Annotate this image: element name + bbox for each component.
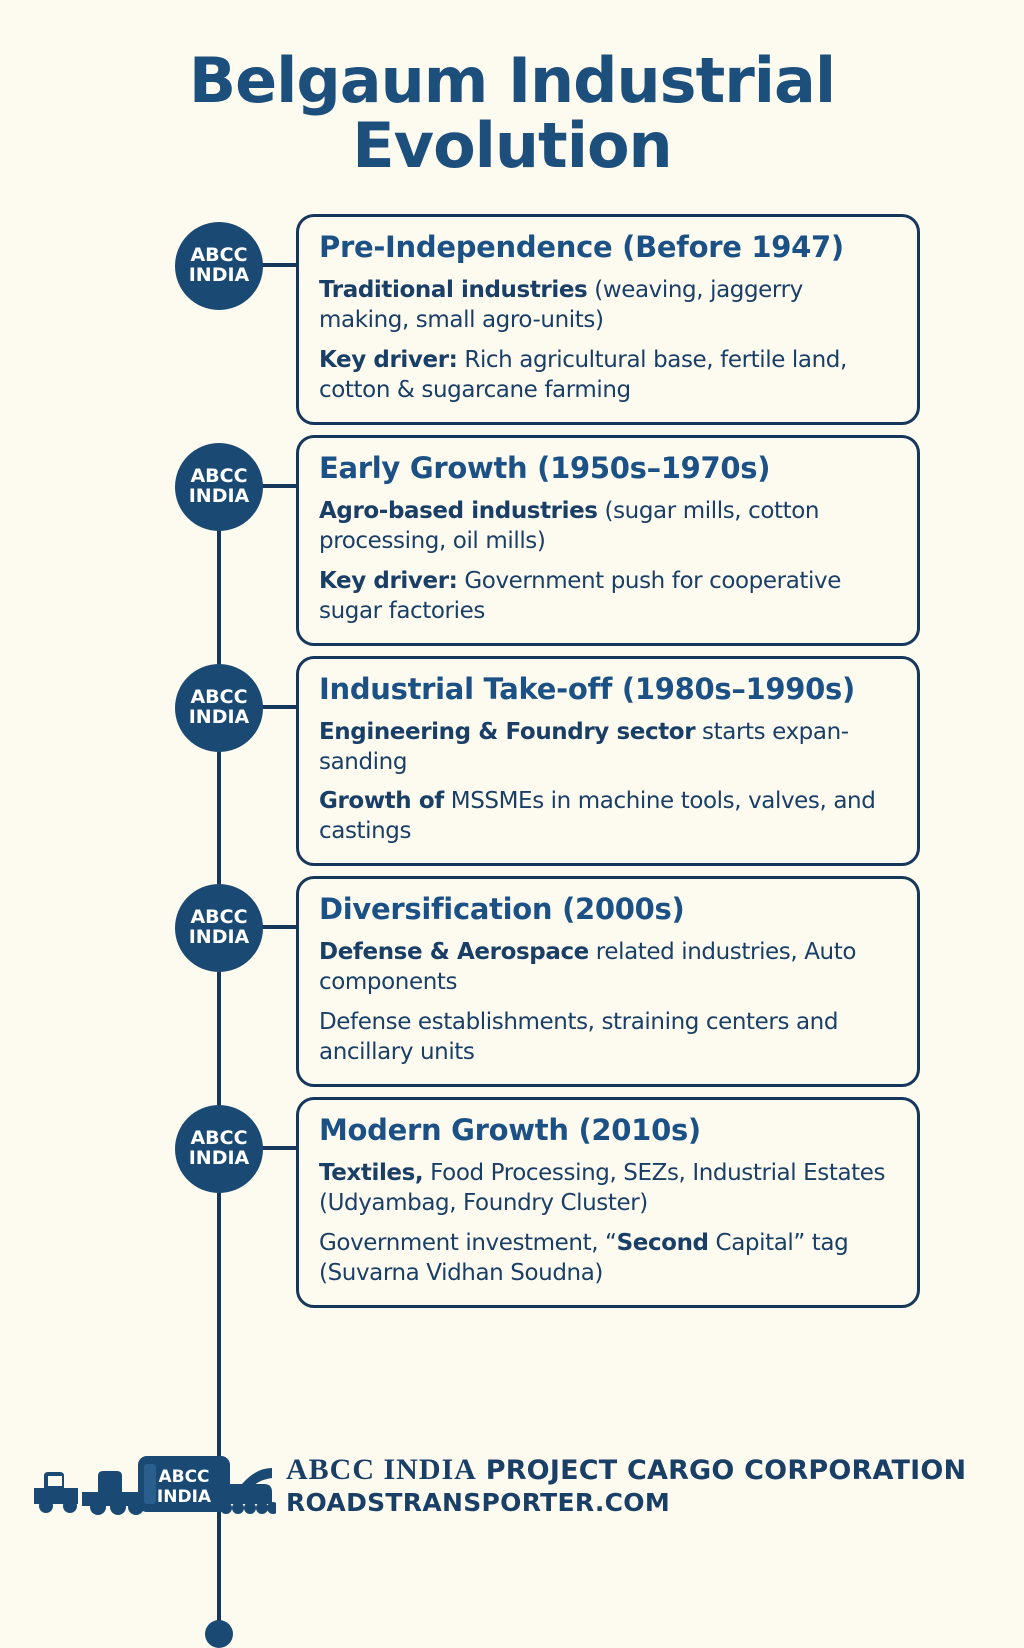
- badge-line1: ABCC: [190, 467, 247, 487]
- timeline-connector: [258, 484, 300, 488]
- card-paragraph-lead: Agro-based industries: [319, 498, 598, 524]
- timeline-badge-3: ABCC INDIA: [175, 664, 263, 752]
- timeline-badge-1: ABCC INDIA: [175, 222, 263, 310]
- footer-brand: ABCC INDIA: [286, 1453, 477, 1486]
- card-title: Pre-Independence (Before 1947): [319, 229, 897, 266]
- card-paragraph-lead: Engineering & Foundry sector: [319, 719, 695, 745]
- card-paragraph: Growth of MSSMEs in machine tools, valve…: [319, 787, 897, 847]
- timeline-connector: [258, 925, 300, 929]
- card-paragraph: Defense establishments, straining center…: [319, 1008, 897, 1068]
- card-paragraph: Defense & Aerospace related industries, …: [319, 938, 897, 998]
- timeline-badge-4: ABCC INDIA: [175, 884, 263, 972]
- timeline-row: ABCC INDIA Diversification (2000s) Defen…: [0, 876, 1024, 1087]
- footer-corp: PROJECT CARGO CORPORATION: [486, 1455, 967, 1486]
- card-paragraph-rest: Defense establishments, straining center…: [319, 1009, 838, 1065]
- card-title: Modern Growth (2010s): [319, 1112, 897, 1149]
- card-title: Early Growth (1950s–1970s): [319, 450, 897, 487]
- timeline-row: ABCC INDIA Industrial Take-off (1980s–19…: [0, 656, 1024, 867]
- badge-line2: INDIA: [189, 1149, 250, 1169]
- card-paragraph-rest: Government investment, “: [319, 1230, 617, 1256]
- badge-line2: INDIA: [189, 708, 250, 728]
- badge-line1: ABCC: [190, 688, 247, 708]
- timeline-connector: [258, 705, 300, 709]
- footer-logo-badge-line2: INDIA: [157, 1487, 212, 1507]
- footer-company-line: ABCC INDIA PROJECT CARGO CORPORATION: [286, 1454, 966, 1486]
- timeline-badge-2: ABCC INDIA: [175, 443, 263, 531]
- card-paragraph-lead: Textiles,: [319, 1160, 423, 1186]
- card-paragraph: Key driver: Government push for cooperat…: [319, 567, 897, 627]
- card-paragraph-lead: Key driver:: [319, 347, 457, 373]
- footer: ABCC INDIA ABCC INDIA PROJECT CARGO CORP…: [0, 1450, 1024, 1522]
- timeline-card-1[interactable]: Pre-Independence (Before 1947) Tradition…: [296, 214, 920, 425]
- card-paragraph: Engineering & Foundry sector starts expa…: [319, 718, 897, 778]
- card-paragraph: Key driver: Rich agricultural base, fert…: [319, 346, 897, 406]
- timeline-badge-5: ABCC INDIA: [175, 1105, 263, 1193]
- timeline-connector: [258, 263, 300, 267]
- timeline-card-2[interactable]: Early Growth (1950s–1970s) Agro-based in…: [296, 435, 920, 646]
- timeline-card-3[interactable]: Industrial Take-off (1980s–1990s) Engine…: [296, 656, 920, 867]
- card-paragraph: Agro-based industries (sugar mills, cott…: [319, 497, 897, 557]
- card-paragraph: Government investment, “Second Capital” …: [319, 1229, 897, 1289]
- timeline-end-dot: [205, 1620, 233, 1648]
- footer-text: ABCC INDIA PROJECT CARGO CORPORATION ROA…: [286, 1454, 966, 1517]
- footer-logo-badge-line1: ABCC: [158, 1467, 209, 1487]
- timeline-row: ABCC INDIA Modern Growth (2010s) Textile…: [0, 1097, 1024, 1308]
- badge-line2: INDIA: [189, 487, 250, 507]
- footer-website[interactable]: ROADSTRANSPORTER.COM: [286, 1489, 966, 1518]
- timeline-card-5[interactable]: Modern Growth (2010s) Textiles, Food Pro…: [296, 1097, 920, 1308]
- card-paragraph-lead: Growth of: [319, 788, 444, 814]
- card-paragraph-lead: Defense & Aerospace: [319, 939, 589, 965]
- card-paragraph-lead: Key driver:: [319, 568, 457, 594]
- badge-line1: ABCC: [190, 908, 247, 928]
- card-paragraph: Textiles, Food Processing, SEZs, Industr…: [319, 1159, 897, 1219]
- card-paragraph: Traditional industries (weaving, jaggerr…: [319, 276, 897, 336]
- card-paragraph-lead2: Second: [617, 1230, 709, 1256]
- timeline-row: ABCC INDIA Early Growth (1950s–1970s) Ag…: [0, 435, 1024, 646]
- badge-line2: INDIA: [189, 928, 250, 948]
- badge-line2: INDIA: [189, 266, 250, 286]
- truck-convoy-logo-icon: ABCC INDIA: [26, 1450, 276, 1522]
- card-paragraph-lead: Traditional industries: [319, 277, 587, 303]
- badge-line1: ABCC: [190, 1129, 247, 1149]
- card-title: Diversification (2000s): [319, 891, 897, 928]
- timeline-row: ABCC INDIA Pre-Independence (Before 1947…: [0, 214, 1024, 425]
- timeline-card-4[interactable]: Diversification (2000s) Defense & Aerosp…: [296, 876, 920, 1087]
- timeline: ABCC INDIA Pre-Independence (Before 1947…: [0, 214, 1024, 1307]
- badge-line1: ABCC: [190, 246, 247, 266]
- card-title: Industrial Take-off (1980s–1990s): [319, 671, 897, 708]
- timeline-connector: [258, 1146, 300, 1150]
- page-title: Belgaum Industrial Evolution: [0, 0, 1024, 178]
